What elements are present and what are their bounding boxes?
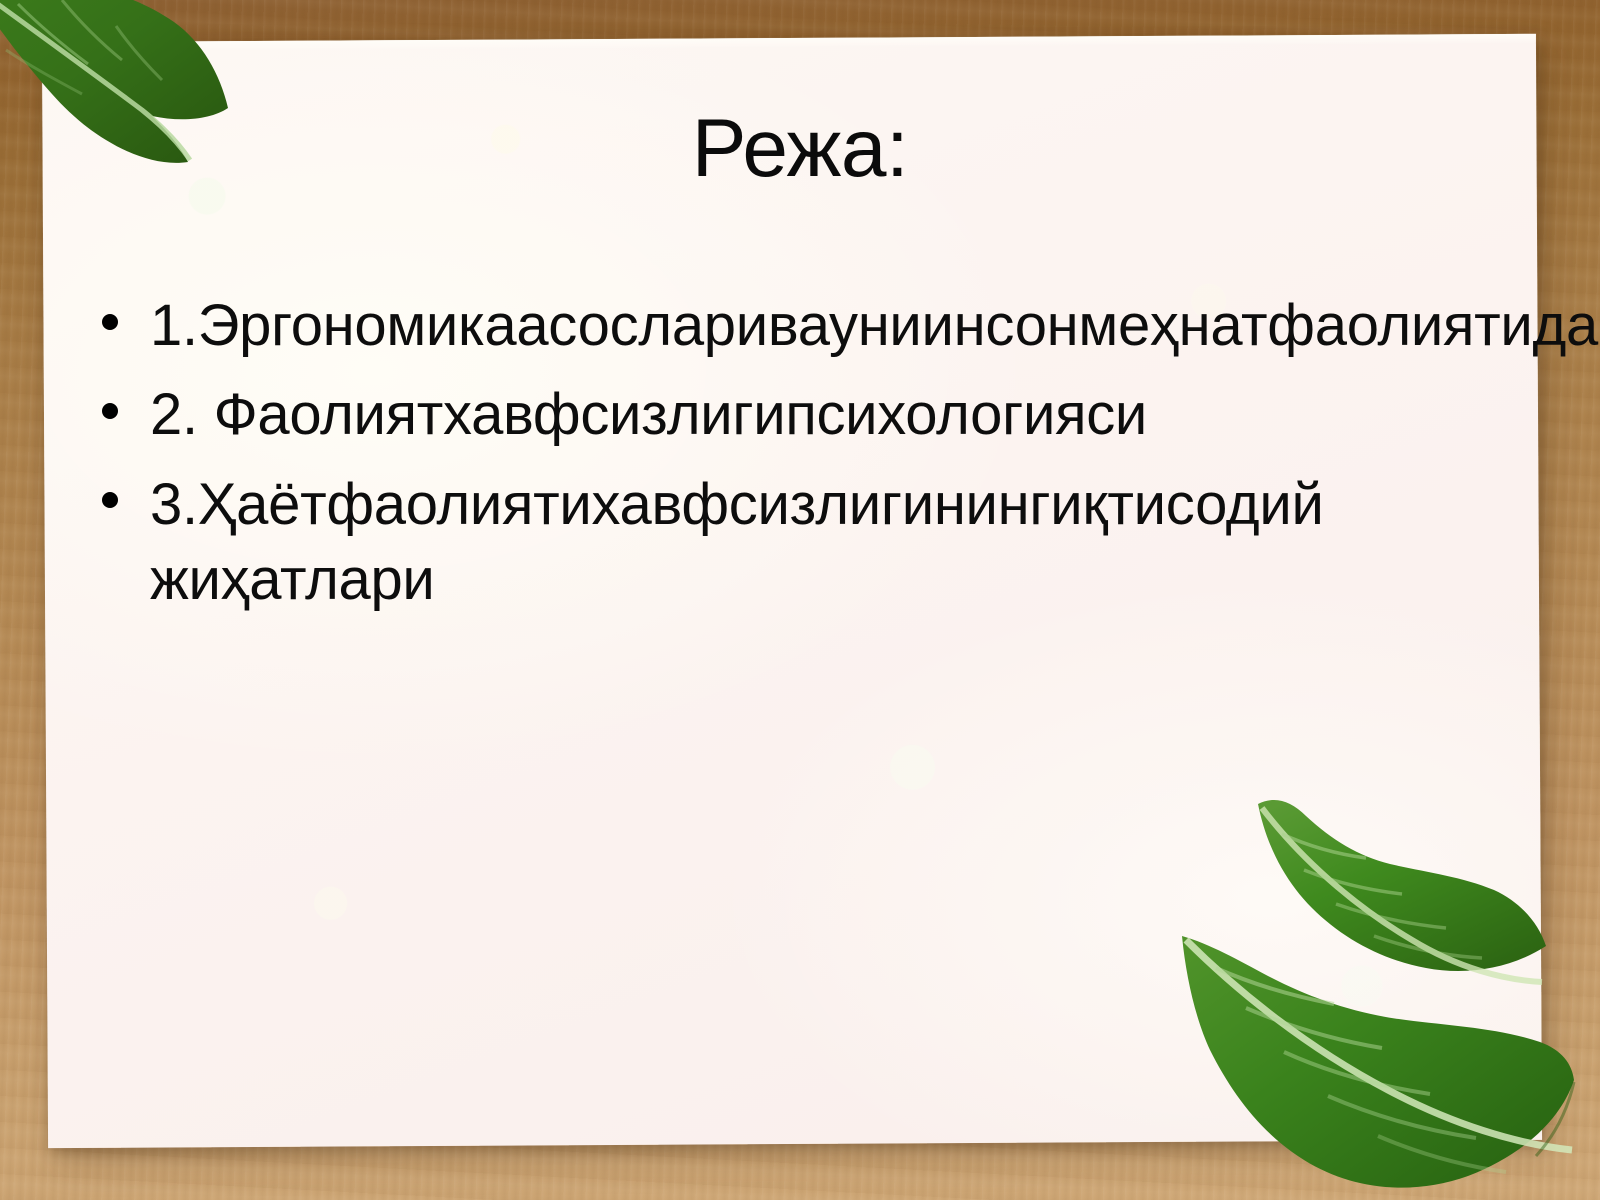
list-item-label: 2. Фаолиятхавфсизлигипсихологияси xyxy=(150,382,1147,447)
list-item: 2. Фаолиятхавфсизлигипсихологияси xyxy=(88,377,1488,452)
list-item-label: 1.Эргономикаасосларивауниинсонмеҳнатфаол… xyxy=(150,293,1600,358)
slide-canvas: Режа: 1.Эргономикаасосларивауниинсонмеҳн… xyxy=(0,0,1600,1200)
bullet-dot-icon xyxy=(102,403,118,419)
list-item: 3.Ҳаётфаолиятихавфсизлигинингиқтисодий ж… xyxy=(88,467,1488,618)
list-item: 1.Эргономикаасосларивауниинсонмеҳнатфаол… xyxy=(88,288,1488,363)
bullet-dot-icon xyxy=(102,314,118,330)
bullet-dot-icon xyxy=(102,492,118,508)
slide-content: Режа: 1.Эргономикаасосларивауниинсонмеҳн… xyxy=(0,0,1600,1200)
page-title: Режа: xyxy=(0,108,1600,190)
plan-bullet-list: 1.Эргономикаасосларивауниинсонмеҳнатфаол… xyxy=(88,288,1488,632)
list-item-label: 3.Ҳаётфаолиятихавфсизлигинингиқтисодий ж… xyxy=(150,472,1324,612)
